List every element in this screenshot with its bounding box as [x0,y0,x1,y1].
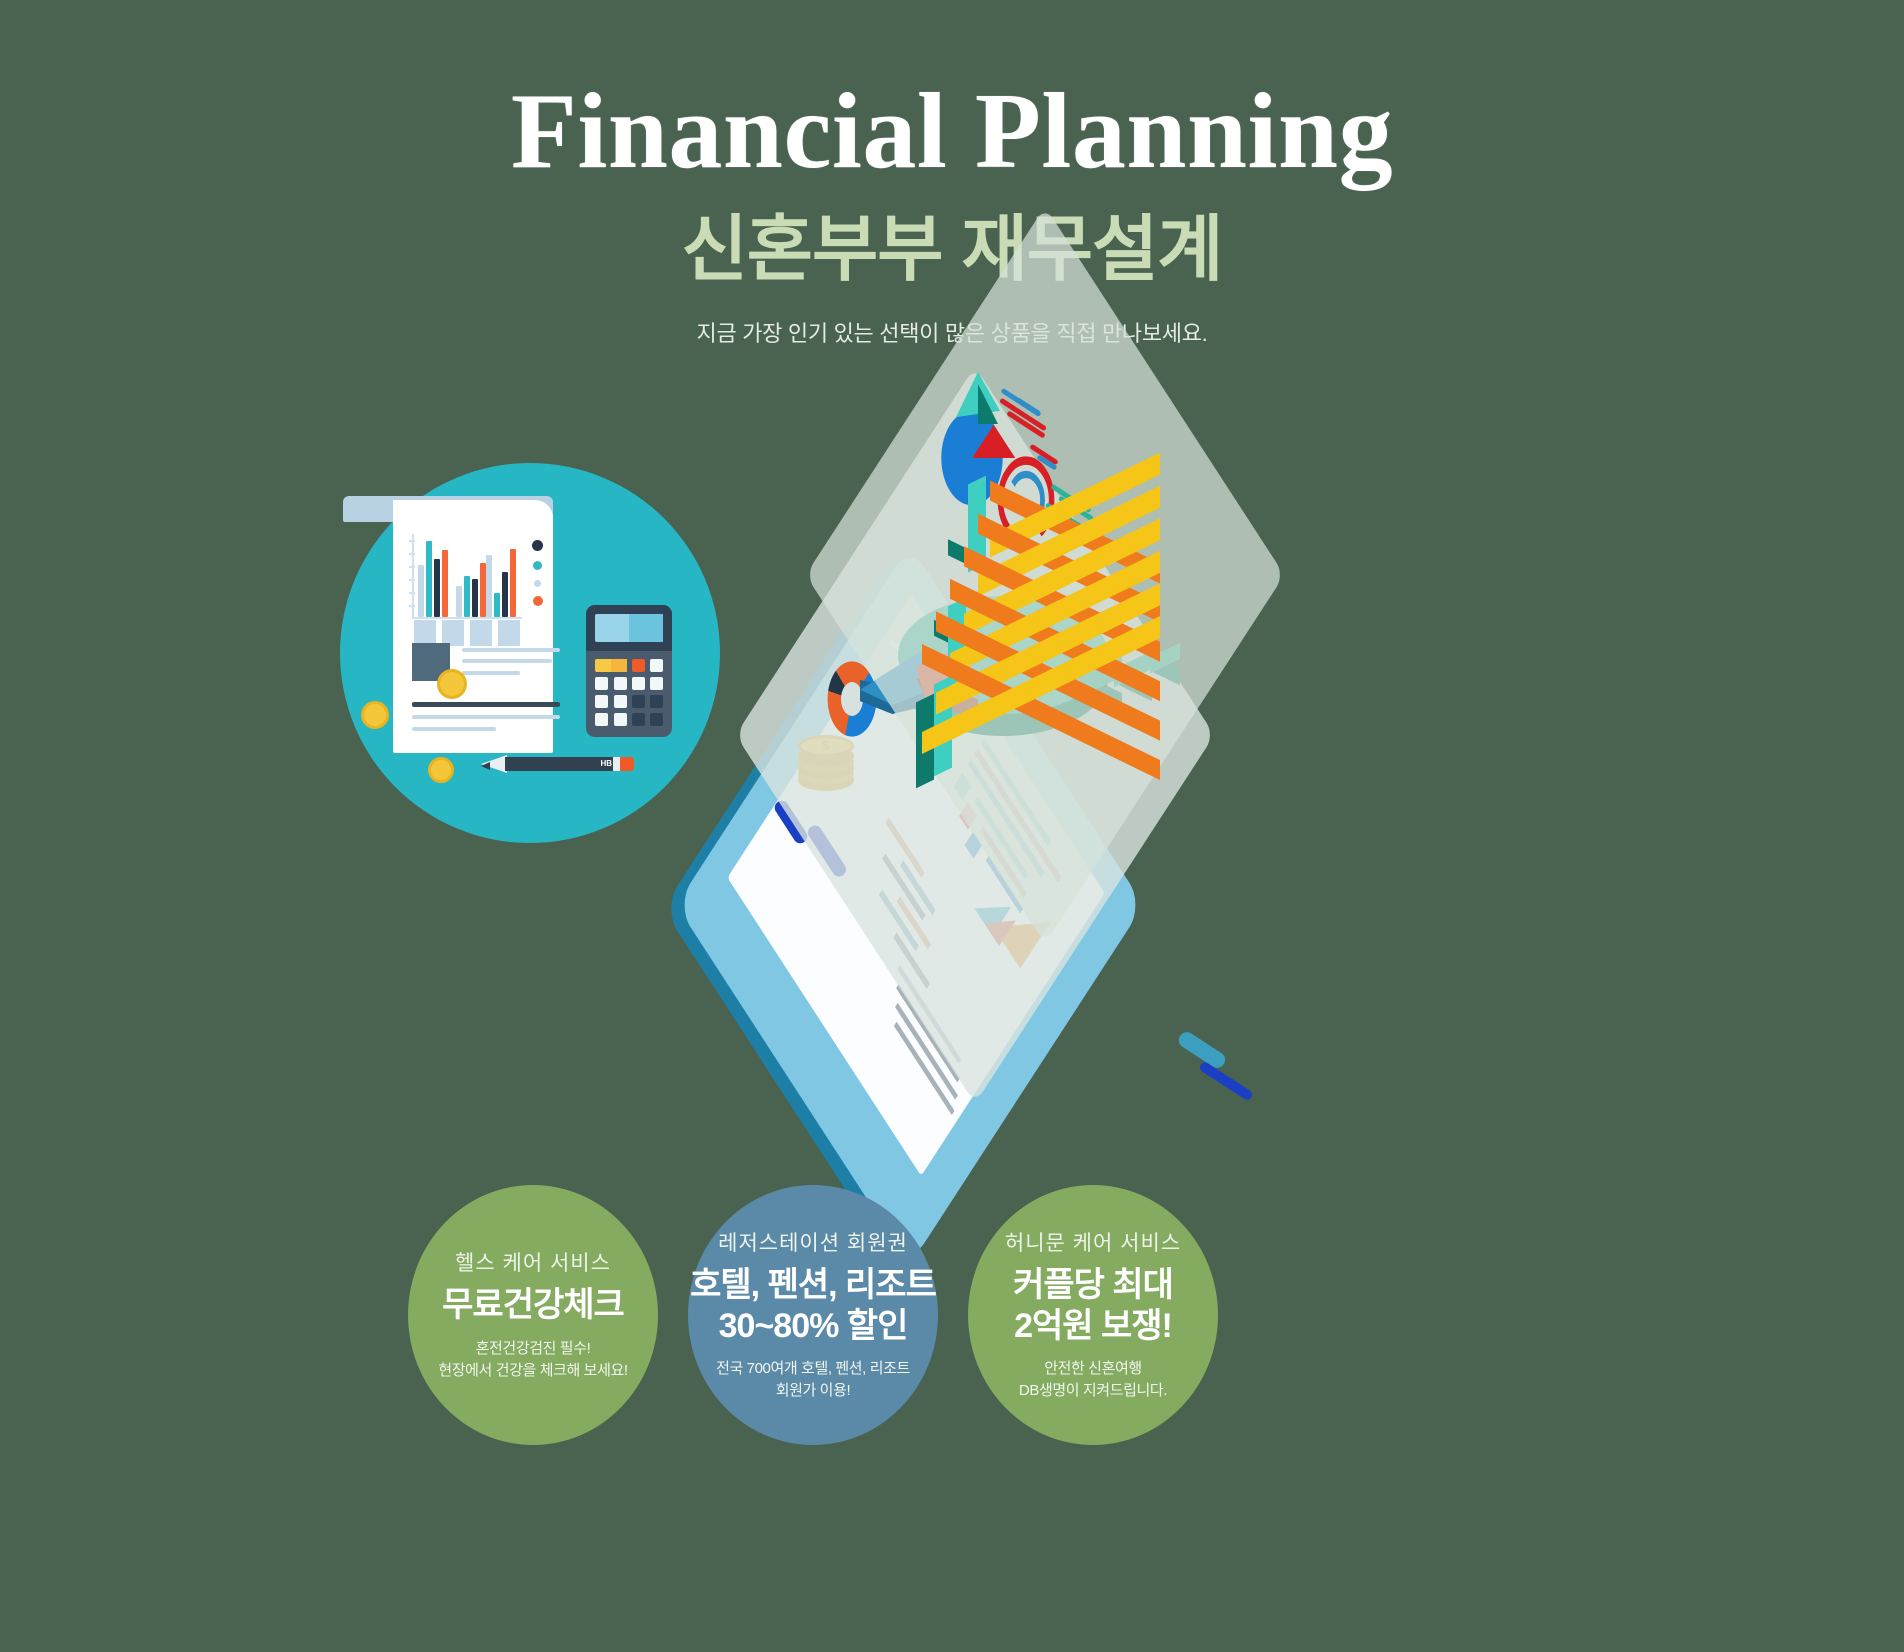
calculator-key[interactable] [595,695,608,708]
poster-canvas: Financial Planning 신혼부부 재무설계 지금 가장 인기 있는… [0,0,1904,1652]
document-text-line [412,715,560,719]
badge-title-line: 2억원 보쟁! [1013,1306,1173,1346]
chart-bar [502,572,508,617]
calculator-key[interactable] [650,677,663,690]
isometric-illustration: $ [680,300,1380,1000]
badge-title: 호텔, 펜션, 리조트 30~80% 할인 [690,1265,936,1345]
chart-bar [510,549,516,617]
chart-tick [409,592,415,594]
calculator-key[interactable] [650,713,663,726]
badge-desc-line: 현장에서 건강을 체크해 보세요! [438,1360,627,1383]
badge-desc-line: 안전한 신혼여행 [1019,1358,1167,1381]
document-text-line [462,671,520,675]
badge-health-care[interactable]: 헬스 케어 서비스 무료건강체크 혼전건강검진 필수! 현장에서 건강을 체크해… [408,1185,658,1445]
calculator-key[interactable] [632,713,645,726]
calculator-key[interactable] [595,659,627,672]
calculator-key[interactable] [632,695,645,708]
calculator-display [595,614,663,642]
calculator-key[interactable] [614,695,627,708]
badge-eyebrow: 레저스테이션 회원권 [718,1227,908,1257]
coin-icon [361,701,389,729]
chart-bar [418,565,424,617]
coin-icon [437,669,467,699]
badge-description: 안전한 신혼여행 DB생명이 지켜드립니다. [1019,1358,1167,1403]
chart-bar [456,586,462,617]
legend-dot-orange [533,596,543,606]
chart-bar [494,593,500,617]
pencil-eraser [620,757,634,771]
legend-dot-light [534,580,541,587]
badge-eyebrow: 헬스 케어 서비스 [455,1247,611,1277]
chart-bar [426,541,432,617]
chart-bar [442,550,448,617]
pencil-grade-label: HB [592,757,614,771]
chart-tick [409,605,415,607]
chart-tick [409,540,415,542]
pencil-ferrule [613,757,620,771]
document-text-line [412,727,496,731]
badge-title-line: 커플당 최대 [1013,1265,1173,1305]
page-title-korean: 신혼부부 재무설계 [0,214,1904,286]
badge-desc-line: 전국 700여개 호텔, 펜션, 리조트 [716,1358,910,1381]
badge-leisure-membership[interactable]: 레저스테이션 회원권 호텔, 펜션, 리조트 30~80% 할인 전국 700여… [688,1185,938,1445]
calculator-key[interactable] [632,659,645,672]
calculator-key[interactable] [595,713,608,726]
badge-desc-line: 혼전건강검진 필수! [438,1338,627,1361]
chart-tick [409,579,415,581]
badge-description: 전국 700여개 호텔, 펜션, 리조트 회원가 이용! [716,1358,910,1403]
calculator-key[interactable] [650,695,663,708]
benefit-badges: 헬스 케어 서비스 무료건강체크 혼전건강검진 필수! 현장에서 건강을 체크해… [0,1185,1904,1475]
chart-bar [486,555,492,617]
badge-title-line: 호텔, 펜션, 리조트 [690,1265,936,1305]
badge-title: 커플당 최대 2억원 보쟁! [1013,1265,1173,1345]
badge-honeymoon-care[interactable]: 허니문 케어 서비스 커플당 최대 2억원 보쟁! 안전한 신혼여행 DB생명이… [968,1185,1218,1445]
growth-arrow-head-shadow [978,384,998,424]
pencil-lead [481,762,490,770]
badge-desc-line: 회원가 이용! [716,1380,910,1403]
legend-dot-navy [532,540,543,551]
calculator-key[interactable] [614,677,627,690]
document-bar-chart [412,534,522,619]
document-text-line [462,659,552,663]
calculator [586,605,672,737]
chart-tick [409,553,415,555]
badge-title: 무료건강체크 [442,1285,624,1325]
badge-title-line: 30~80% 할인 [690,1306,936,1346]
badge-eyebrow: 허니문 케어 서비스 [1005,1227,1181,1257]
chart-x-axis [412,617,522,619]
page-title-english: Financial Planning [0,78,1904,186]
calculator-key[interactable] [650,659,663,672]
calculator-key[interactable] [632,677,645,690]
calculator-key[interactable] [595,677,608,690]
chart-bar [434,559,440,617]
header: Financial Planning 신혼부부 재무설계 지금 가장 인기 있는… [0,0,1904,348]
badge-desc-line: DB생명이 지켜드립니다. [1019,1380,1167,1403]
chart-bar [464,576,470,617]
chart-base-block [498,620,520,646]
chart-bar [472,579,478,617]
document-text-line [462,648,560,652]
chart-tick [409,566,415,568]
chart-base-block [470,620,492,646]
document-text-line-bold [412,702,560,707]
power-button[interactable] [1198,1060,1254,1101]
badge-description: 혼전건강검진 필수! 현장에서 건강을 체크해 보세요! [438,1338,627,1383]
legend-dot-teal [533,561,542,570]
coin-icon [428,757,454,783]
calculator-key[interactable] [614,713,627,726]
